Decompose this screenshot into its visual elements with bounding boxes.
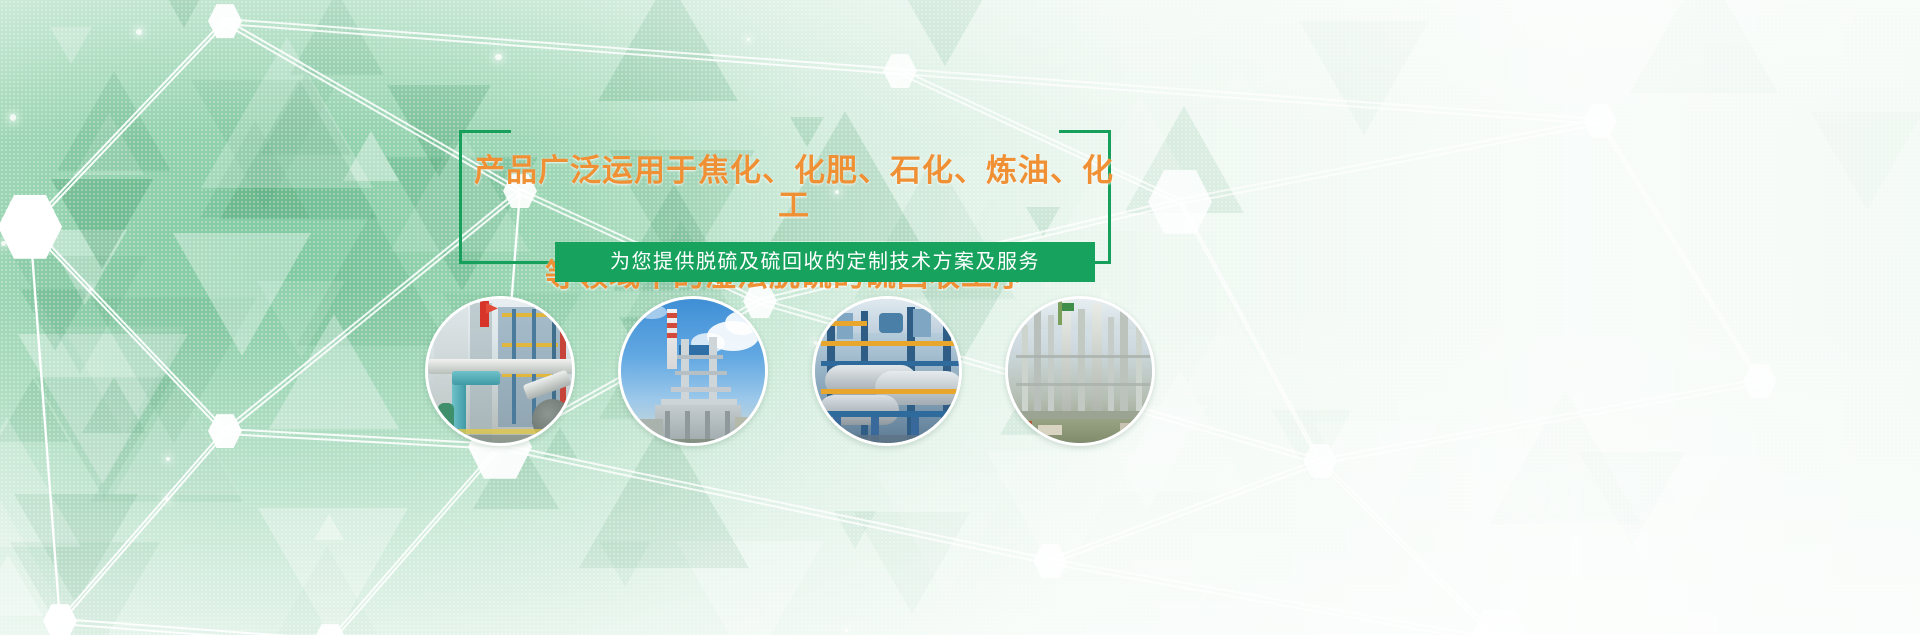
sparkle-dot	[10, 114, 16, 120]
triangle-shape	[258, 508, 408, 635]
hexagon-bond-line	[329, 448, 501, 635]
triangle-shape	[599, 541, 651, 587]
triangle-shape	[0, 378, 69, 442]
triangle-shape	[163, 0, 205, 28]
triangle-shape	[1643, 472, 1677, 503]
hexagon-bond-line	[29, 223, 61, 618]
triangle-shape	[1299, 21, 1429, 135]
hexagon-bond-line	[1319, 463, 1500, 635]
hexagon-bond-line	[1050, 563, 1500, 635]
triangle-shape	[0, 417, 81, 547]
triangle-shape	[1272, 410, 1352, 481]
triangle-shape	[1180, 309, 1280, 397]
triangle-shape	[1125, 554, 1231, 635]
hexagon-node	[1148, 168, 1212, 236]
photo-scene	[815, 299, 959, 443]
triangle-shape	[50, 27, 92, 64]
hexagon-bond-line	[59, 433, 226, 624]
hexagon-bond-line	[29, 223, 225, 429]
triangle-shape	[257, 281, 345, 358]
triangle-shape	[1584, 457, 1726, 582]
hexagon-bond-line	[59, 428, 226, 619]
hexagon-node	[0, 193, 62, 261]
photo-row	[425, 296, 1155, 446]
triangle-shape	[10, 542, 160, 635]
triangle-shape	[290, 0, 384, 75]
triangle-shape	[114, 384, 240, 495]
triangle-shape	[854, 512, 970, 614]
sparkle-dot	[89, 288, 92, 291]
triangle-shape	[0, 501, 82, 635]
triangle-shape	[1630, 0, 1778, 93]
sparkle-dot	[1, 241, 6, 246]
triangle-shape	[1600, 25, 1692, 106]
hexagon-bond-line	[1320, 383, 1760, 465]
triangle-shape	[191, 80, 339, 210]
hexagon-bond-line	[1599, 118, 1761, 379]
triangle-shape	[1844, 287, 1872, 313]
hexagon-node	[1468, 608, 1532, 635]
triangle-shape	[14, 494, 138, 604]
triangle-shape	[676, 541, 824, 635]
headline-block: 产品广泛运用于焦化、化肥、石化、炼油、化工 等领域中的湿法脱硫的硫回收工序 为您…	[455, 112, 1115, 287]
sparkle-dot	[136, 29, 142, 35]
hexagon-bond-line	[1179, 203, 1321, 464]
triangle-shape	[1124, 106, 1244, 213]
triangle-shape	[1811, 112, 1920, 210]
subheading-bar: 为您提供脱硫及硫回收的定制技术方案及服务	[555, 242, 1095, 282]
photo-scene	[1008, 299, 1152, 443]
hexagon-bond-line	[60, 623, 330, 635]
sparkle-dot	[47, 224, 55, 232]
triangle-shape	[1219, 66, 1259, 101]
hexagon-bond-line	[1050, 463, 1321, 565]
triangle-shape	[1313, 422, 1439, 533]
triangle-shape	[173, 233, 311, 356]
photo-scene	[428, 299, 572, 443]
desulfurization-vessels-photo	[812, 296, 962, 446]
refinery-piping-photo	[425, 296, 575, 446]
triangle-shape	[1491, 479, 1559, 539]
hexagon-bond-line	[1050, 558, 1500, 635]
hexagon-node	[313, 623, 347, 635]
hexagon-node	[1583, 103, 1617, 139]
triangle-shape	[343, 131, 399, 181]
triangle-shape	[74, 113, 144, 175]
triangle-shape	[57, 71, 171, 171]
triangle-shape	[1489, 389, 1641, 524]
triangle-shape	[43, 230, 127, 305]
triangle-shape	[91, 368, 243, 502]
hexagon-node	[883, 53, 917, 89]
triangle-shape	[201, 37, 373, 188]
triangle-shape	[314, 514, 344, 540]
hexagon-bond-line	[225, 18, 900, 70]
triangle-shape	[220, 79, 378, 219]
triangle-shape	[51, 179, 153, 269]
hexagon-node	[1743, 363, 1777, 399]
hexagon-bond-line	[1180, 123, 1600, 205]
sparkle-dot	[845, 629, 848, 632]
triangle-shape	[35, 377, 173, 499]
triangle-shape	[986, 451, 1134, 582]
triangle-shape	[277, 546, 377, 634]
hexagon-bond-line	[60, 618, 330, 635]
triangle-shape	[91, 297, 257, 444]
hexagon-bond-line	[329, 443, 501, 635]
chemical-columns-photo	[1005, 296, 1155, 446]
hexagon-bond-line	[500, 443, 1050, 560]
hexagon-bond-line	[1599, 123, 1761, 384]
sparkle-dot	[165, 497, 168, 500]
hexagon-bond-line	[29, 228, 225, 434]
sparkle-dot	[495, 54, 502, 61]
hexagon-node	[1033, 543, 1067, 579]
triangle-shape	[1579, 452, 1685, 546]
sparkle-dot	[747, 38, 750, 41]
triangle-shape	[200, 120, 310, 218]
triangle-shape	[260, 73, 352, 155]
triangle-shape	[865, 0, 1025, 66]
triangle-shape	[269, 314, 399, 429]
triangle-shape	[598, 0, 738, 101]
hexagon-bond-line	[1320, 378, 1760, 460]
triangle-shape	[20, 289, 90, 351]
triangle-shape	[63, 327, 185, 435]
hexagon-bond-line	[29, 23, 225, 229]
triangle-shape	[875, 472, 1017, 597]
hexagon-bond-line	[1179, 198, 1321, 459]
sulfur-recovery-tower-photo	[618, 296, 768, 446]
hexagon-bond-line	[29, 18, 225, 224]
triangle-shape	[0, 555, 43, 616]
triangle-shape	[1436, 403, 1562, 514]
triangle-shape	[18, 334, 188, 484]
promotional-banner: 产品广泛运用于焦化、化肥、石化、炼油、化工 等领域中的湿法脱硫的硫回收工序 为您…	[0, 0, 1920, 635]
triangle-shape	[834, 511, 876, 549]
hexagon-bond-line	[500, 448, 1050, 565]
headline-line-1: 产品广泛运用于焦化、化肥、石化、炼油、化工	[455, 153, 1115, 223]
triangle-shape	[82, 377, 146, 433]
hexagon-bond-line	[1319, 458, 1500, 635]
triangle-shape	[13, 256, 147, 374]
sparkle-dot	[166, 457, 170, 461]
hexagon-node	[43, 603, 77, 635]
photo-scene	[621, 299, 765, 443]
hexagon-node	[208, 3, 242, 39]
hexagon-bond-line	[1050, 458, 1321, 560]
hexagon-node	[208, 413, 242, 449]
hexagon-bond-line	[225, 23, 900, 75]
triangle-shape	[1378, 367, 1406, 393]
hexagon-node	[1303, 443, 1337, 479]
hexagon-bond-line	[29, 228, 61, 623]
subheading-text: 为您提供脱硫及硫回收的定制技术方案及服务	[610, 242, 1040, 282]
hexagon-bond-line	[1180, 118, 1600, 200]
